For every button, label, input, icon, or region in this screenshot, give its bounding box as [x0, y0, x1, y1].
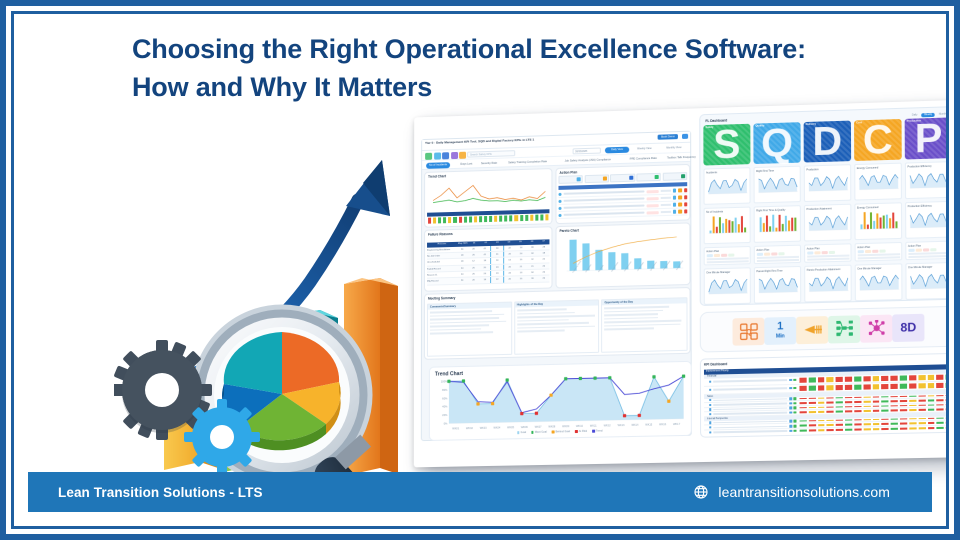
kpi-status-cell: [880, 374, 889, 381]
kpi-status-cell: [862, 400, 871, 404]
card-line: [908, 255, 946, 258]
kpi-status-cell: [798, 384, 807, 391]
row-action-icon[interactable]: [684, 210, 687, 214]
card-chip[interactable]: [857, 250, 863, 254]
row-bullet: [559, 213, 562, 216]
gear-small-icon: [184, 399, 260, 475]
kpi-status-cell: [862, 375, 871, 382]
card-chip[interactable]: [879, 249, 885, 253]
summary-text-line: [430, 328, 481, 331]
row-bullet: [559, 206, 562, 209]
sqdcp-letter-label: Delivery: [806, 123, 816, 126]
card-chip[interactable]: [915, 248, 921, 252]
row-action-icon[interactable]: [673, 196, 676, 200]
kpi-row-text: [713, 379, 787, 382]
card-line: [706, 261, 748, 264]
kpi-status-cell: [908, 417, 917, 421]
kpi-row-status[interactable]: [793, 387, 796, 390]
card-chip[interactable]: [872, 249, 878, 253]
kpi-status-cell: [936, 408, 945, 412]
kpi-row-action[interactable]: [789, 420, 792, 423]
date-picker[interactable]: 30/03/2025: [573, 148, 601, 155]
cost-module-icon[interactable]: [451, 151, 458, 158]
kpi-status-cell: [853, 409, 862, 413]
row-action-icon[interactable]: [678, 203, 681, 207]
row-text: [564, 212, 645, 216]
slide-canvas: Choosing the Right Operational Excellenc…: [14, 14, 946, 526]
sqdcp-letter-tile-delivery[interactable]: DeliveryD: [804, 121, 852, 163]
kpi-status-cell: [945, 403, 946, 407]
meeting-summary-body: [428, 308, 511, 339]
sqdcp-card-action-plan[interactable]: Action Plan: [905, 241, 946, 261]
network-diagram-icon[interactable]: [860, 314, 892, 342]
kpi-status-cell: [935, 373, 944, 380]
kpi-status-cell: [890, 417, 899, 421]
sqdcp-letter-tile-quality[interactable]: QualityQ: [753, 122, 800, 164]
sqdcp-card-energy-consumed[interactable]: Energy Consumed: [854, 163, 902, 201]
summary-text-line: [430, 331, 494, 334]
legend-item: Trend: [592, 429, 602, 432]
chip-badge: [603, 176, 607, 180]
table-cell: Reason 11: [427, 272, 456, 278]
kpi-row-action[interactable]: [789, 429, 792, 432]
sqdcp-card-production-attainment[interactable]: Production Attainment: [804, 204, 852, 242]
sqdcp-card-action-plan[interactable]: Action Plan: [855, 242, 903, 262]
kpi-status-cell: [917, 403, 926, 407]
table-cell: 15: [515, 277, 526, 283]
kpi-status-cell: [835, 405, 844, 409]
footer-brand: Lean Transition Solutions - LTS: [58, 485, 263, 500]
row-status: [646, 204, 658, 207]
action-plan-panel: Action Plan: [555, 164, 690, 224]
row-owner: [661, 197, 671, 199]
x-axis-tick: WK10: [573, 425, 587, 428]
growth-analytics-illustration: [114, 132, 444, 492]
kpi-status-cell: [890, 427, 899, 431]
kpi-status-cell: [817, 419, 826, 423]
table-cell: 24: [527, 270, 538, 276]
safety-module-icon[interactable]: [425, 152, 432, 159]
row-action-icon[interactable]: [684, 203, 687, 207]
tab-no-of-incidents[interactable]: No of Incidents: [426, 162, 450, 169]
trend-chart-large[interactable]: Trend Chart 100%80%60%40%20%0% WK01WK02W…: [429, 361, 692, 441]
production-module-icon[interactable]: [459, 151, 466, 158]
kpi-row-status[interactable]: [793, 411, 796, 414]
row-action-icon[interactable]: [673, 189, 676, 193]
kpi-status-cell: [936, 426, 945, 430]
sqdcp-dashboard[interactable]: FL Dashboard DailyWeeklyMonthly SafetySA…: [699, 106, 946, 306]
kpi-status-cell: [945, 393, 946, 397]
summary-text-line: [604, 309, 663, 312]
table-cell: 23: [491, 271, 504, 277]
sqdcp-letter-tile-production[interactable]: ProductionP: [905, 117, 946, 159]
kpi-row-status[interactable]: [793, 425, 796, 428]
card-chip[interactable]: [713, 253, 719, 257]
action-plan-chip[interactable]: [584, 174, 608, 183]
kpi-row-icon: [709, 380, 711, 382]
row-action-icon[interactable]: [684, 188, 687, 192]
table-cell: 23: [491, 264, 504, 270]
kpi-status-cell: [835, 410, 844, 414]
table-cell: Unscheduled: [427, 259, 456, 265]
kpi-status-cell: [890, 374, 899, 381]
card-chip[interactable]: [908, 248, 914, 252]
tab-safety-training-completion-rate[interactable]: Safety Training Completion Rate: [508, 159, 547, 166]
card-chip[interactable]: [814, 251, 820, 255]
table-cell: 19: [527, 276, 538, 282]
kpi-row-status[interactable]: [793, 397, 796, 400]
meeting-summary-column: Highlights of the Day: [514, 299, 600, 354]
table-cell: 22: [491, 277, 504, 283]
view-toggle-weekly-view[interactable]: Weekly View: [631, 146, 657, 153]
card-chips: [756, 251, 798, 256]
row-action-icon[interactable]: [678, 210, 681, 214]
kpi-status-cell: [871, 383, 880, 390]
kpi-status-cell: [807, 376, 816, 383]
card-chip[interactable]: [728, 253, 734, 257]
card-chip[interactable]: [807, 251, 813, 255]
summary-text-line: [517, 319, 569, 322]
kpi-status-cell: [945, 407, 946, 411]
sqdcp-card-one-minute-manager[interactable]: One Minute Manager: [905, 262, 946, 300]
tree-diagram-icon[interactable]: [828, 315, 860, 343]
x-axis-tick: WK07: [531, 426, 545, 429]
legend-swatch: [575, 430, 578, 433]
kpi-status-cell: [917, 426, 926, 430]
card-chip[interactable]: [771, 252, 777, 256]
kpi-status-cell: [853, 400, 862, 404]
kpi-row-status[interactable]: [793, 379, 796, 382]
kpi-status-cell: [817, 401, 826, 405]
kpi-status-cell: [872, 418, 881, 422]
card-chip[interactable]: [706, 254, 712, 258]
sqdcp-card-production-efficiency[interactable]: Production Efficiency: [905, 161, 946, 199]
row-action-icon[interactable]: [673, 203, 676, 207]
summary-text-line: [430, 317, 499, 320]
kpi-status-cell: [890, 382, 899, 389]
kpi-row-icon: [709, 404, 711, 406]
sqdcp-card-energy-consumed[interactable]: Energy Consumed: [854, 202, 902, 240]
card-chip[interactable]: [864, 249, 870, 253]
footer-website: leantransitionsolutions.com: [718, 484, 890, 500]
kpi-row-icon: [709, 431, 711, 433]
legend-label: At Risk: [579, 430, 587, 433]
sqdcp-card-action-plan[interactable]: Action Plan: [754, 245, 801, 265]
meeting-summary-panel: Meeting Summary Comments/SummaryHighligh…: [424, 287, 691, 360]
sqdcp-column-quality: QualityQRight First TimeRight First Time…: [753, 122, 801, 300]
legend-label: Trend: [596, 429, 603, 432]
kpi-row-action[interactable]: [789, 379, 792, 382]
action-plan-chip[interactable]: [636, 173, 661, 182]
kpi-status-cell: [881, 427, 890, 431]
table-cell: 18: [479, 277, 490, 283]
kpi-status-cell: [853, 418, 862, 422]
kpi-status-cell: [826, 419, 835, 423]
kpi-status-cell: [871, 409, 880, 413]
kpi-status-cell: [908, 374, 917, 381]
summary-text-line: [517, 312, 575, 315]
kpi-status-cell: [853, 423, 862, 427]
kpi-row-text: [713, 407, 787, 410]
table-cell: 18: [538, 250, 549, 256]
kpi-row-action[interactable]: [789, 402, 792, 405]
sqdcp-card-no-of-incidents[interactable]: No of Incidents: [704, 207, 751, 245]
card-chip[interactable]: [922, 248, 928, 252]
row-action-icon[interactable]: [678, 189, 681, 193]
export-icon[interactable]: [682, 133, 688, 138]
kpi-status-cell: [817, 384, 826, 391]
kpi-status-cell: [881, 409, 890, 413]
kpi-status-cell: [826, 428, 835, 432]
table-cell: 24: [456, 278, 467, 284]
sqdcp-card-pareto-right-first-time[interactable]: Pareto Right First Time: [754, 266, 801, 304]
kpi-status-cell: [835, 428, 844, 432]
summary-text-line: [604, 323, 680, 326]
meeting-summary-column: Opportunity of the Day: [601, 297, 687, 353]
tool-label: 1: [777, 321, 783, 332]
kpi-status-cell: [926, 373, 935, 380]
table-cell: 20: [504, 264, 515, 270]
kpi-status-cell: [890, 422, 899, 426]
card-chip[interactable]: [778, 252, 784, 256]
search-input[interactable]: Search Safety KPIs: [467, 150, 515, 157]
sqdcp-card-one-minute-manager[interactable]: One Minute Manager: [855, 263, 903, 301]
sqdcp-column-production: ProductionPProduction EfficiencyProducti…: [905, 117, 946, 296]
kpi-status-cell: [798, 376, 807, 383]
kpi-row-action[interactable]: [789, 407, 792, 410]
kpi-status-cell: [917, 408, 926, 412]
summary-text-line: [517, 325, 595, 328]
card-chip[interactable]: [828, 250, 834, 254]
tab-days-lost[interactable]: Days Lost: [460, 161, 472, 167]
kpi-row-status[interactable]: [793, 429, 796, 432]
kpi-row-icon: [709, 408, 711, 410]
sqdcp-card-right-first-time[interactable]: Right First Time: [754, 166, 801, 204]
kpi-status-cell: [899, 427, 908, 431]
kpi-status-cell: [926, 408, 935, 412]
one-minute-icon[interactable]: 1Min: [764, 316, 796, 344]
summary-text-line: [604, 327, 653, 330]
table-cell: 14: [515, 244, 526, 250]
summary-text-line: [604, 313, 657, 316]
kpi-status-cell: [844, 405, 853, 409]
svg-text:0%: 0%: [444, 421, 448, 425]
card-chip[interactable]: [930, 248, 936, 252]
sqdcp-card-pareto-production-attainment[interactable]: Pareto Production Attainment: [804, 265, 852, 303]
kpi-status-cell: [890, 399, 899, 403]
card-chip[interactable]: [721, 253, 727, 257]
title-line-1: Choosing the Right Operational Excellenc…: [132, 30, 892, 68]
action-plan-chip[interactable]: [663, 172, 688, 181]
kpi-status-cell: [899, 374, 908, 381]
kpi-status-cell: [799, 406, 808, 410]
tab-ppe-compliance-rate[interactable]: PPE Compliance Rate: [630, 155, 657, 162]
kpi-status-cell: [844, 423, 853, 427]
eight-d-icon[interactable]: 8D: [892, 313, 924, 341]
kpi-status-cell: [917, 399, 926, 403]
kpi-row-icon: [709, 422, 711, 424]
kpi-status-cell: [881, 418, 890, 422]
sqdcp-card-production-efficiency[interactable]: Production Efficiency: [905, 201, 946, 239]
x-axis-tick: WK05: [504, 426, 518, 429]
kpi-status-cell: [808, 419, 817, 423]
table-cell: 24: [527, 251, 538, 257]
meeting-summary-column: Comments/Summary: [427, 302, 512, 357]
tab-toolbox-talk-frequency[interactable]: Toolbox Talk Frequency: [667, 154, 696, 161]
tab-job-safety-analysis-jsa-compliance[interactable]: Job Safety Analysis (JSA) Compliance: [565, 157, 611, 164]
kpi-row-action[interactable]: [789, 397, 792, 400]
meeting-summary-body: [515, 305, 599, 336]
summary-text-line: [430, 324, 489, 327]
kpi-status-cell: [926, 421, 935, 425]
kpi-status-cell: [862, 409, 871, 413]
row-action-icon[interactable]: [684, 196, 687, 200]
fishbone-icon[interactable]: [796, 316, 828, 344]
summary-text-line: [517, 315, 595, 318]
chip-badge: [655, 175, 659, 179]
card-chip[interactable]: [756, 252, 762, 256]
quality-module-icon[interactable]: [434, 152, 441, 159]
kpi-status-cell: [808, 428, 817, 432]
delivery-module-icon[interactable]: [442, 152, 449, 159]
product-screenshot-composite[interactable]: Tier 0 - Daily Management KPI Tool, SQD …: [414, 100, 946, 467]
x-axis-tick: WK06: [517, 426, 531, 429]
summary-text-line: [517, 322, 589, 325]
kpi-row-icon: [709, 399, 711, 401]
row-status: [646, 190, 658, 193]
letter-mosaic-texture: [804, 121, 852, 163]
kpi-status-cell: [844, 395, 853, 399]
kpi-status-cell: [808, 384, 817, 391]
sqdcp-letter-tile-cost[interactable]: CostC: [854, 119, 902, 161]
kpi-status-cell: [808, 406, 817, 410]
letter-mosaic-texture: [854, 119, 902, 161]
svg-text:80%: 80%: [442, 388, 448, 392]
meeting-summary-body: [602, 303, 686, 334]
kpi-row-icon: [709, 426, 711, 428]
globe-icon: [693, 484, 709, 500]
table-cell: 12: [468, 259, 479, 265]
sqdcp-letter-label: Quality: [755, 124, 764, 127]
x-axis-tick: WK02: [463, 427, 477, 430]
view-toggle-monthly-view[interactable]: Monthly View: [660, 145, 688, 152]
pareto-chart-panel: Pareto Chart Engineering BreakdUtility B…: [555, 222, 690, 288]
table-cell: 20: [456, 265, 467, 271]
summary-text-line: [430, 310, 493, 313]
table-cell: 24: [491, 245, 504, 251]
kpi-status-cell: [853, 395, 862, 399]
kpi-row-label: [704, 429, 798, 434]
row-bullet: [559, 199, 562, 202]
kpi-status-cell: [917, 417, 926, 421]
footer-bar: Lean Transition Solutions - LTS leantran…: [28, 472, 932, 512]
lean-tools-strip[interactable]: Q1Min8D: [700, 306, 946, 353]
x-axis-tick: WK04: [490, 426, 504, 429]
kpi-row-status[interactable]: [793, 402, 796, 405]
table-cell: Engineering Breakdown: [427, 246, 456, 252]
kpi-dashboard[interactable]: KPI Dashboard Improvement Priority Finan…: [700, 353, 946, 438]
kpi-status-cell: [917, 422, 926, 426]
action-plan-chip[interactable]: [558, 175, 582, 184]
svg-text:20%: 20%: [442, 413, 448, 417]
kpi-row-text: [713, 398, 787, 401]
kpi-row-action[interactable]: [789, 411, 792, 414]
kpi-status-cell: [799, 429, 808, 433]
svg-text:100%: 100%: [441, 379, 448, 383]
sqdcp-letter-tile-safety[interactable]: SafetyS: [703, 124, 750, 166]
kpi-status-cell: [862, 383, 871, 390]
sqdcp-card-action-plan[interactable]: Action Plan: [704, 246, 751, 266]
kpi-row-text: [713, 388, 787, 391]
table-cell: 24: [515, 251, 526, 257]
x-axis-tick: WK08: [545, 425, 559, 428]
card-chip[interactable]: [821, 251, 827, 255]
sqdcp-card-production[interactable]: Production: [804, 164, 852, 202]
table-cell: 20: [456, 272, 467, 278]
sqdcp-card-one-minute-manager[interactable]: One Minute Manager: [704, 267, 751, 305]
kpi-status-cell: [899, 399, 908, 403]
sqdcp-card-accidents[interactable]: Accidents: [703, 167, 750, 205]
kpi-status-cell: [872, 427, 881, 431]
view-toggle-daily-view[interactable]: Daily View: [605, 147, 629, 154]
kpi-status-cell: [799, 424, 808, 428]
x-axis-tick: WK01: [449, 427, 463, 430]
chip-badge: [681, 174, 685, 178]
kpi-status-cell: [835, 396, 844, 400]
failure-reasons-panel: Failure Reasons ReasonsMay 2025010203040…: [424, 226, 553, 292]
title-line-2: How and Why It Matters: [132, 68, 892, 106]
book-demo-button[interactable]: Book Demo: [658, 134, 678, 140]
table-cell: 33: [527, 244, 538, 250]
sqdcp-card-action-plan[interactable]: Action Plan: [804, 243, 851, 263]
row-owner: [661, 204, 671, 206]
kpi-row-action[interactable]: [789, 425, 792, 428]
kpi-status-cell: [799, 419, 808, 423]
kpi-status-cell: [908, 399, 917, 403]
row-action-icon[interactable]: [673, 210, 676, 214]
kpi-row-status[interactable]: [793, 406, 796, 409]
kpi-status-cell: [899, 417, 908, 421]
kpi-status-cell: [871, 400, 880, 404]
kpi-status-cell: [862, 427, 871, 431]
kpi-row-text: [713, 421, 787, 424]
legend-label: Behind Goal: [556, 430, 570, 433]
kpi-status-cell: [881, 399, 890, 403]
kpi-row-status[interactable]: [793, 420, 796, 423]
kpi-status-cell: [945, 421, 946, 425]
kpi-status-cell: [808, 401, 817, 405]
summary-text-line: [604, 317, 658, 320]
table-cell: 21: [527, 263, 538, 269]
kpi-status-cell: [817, 410, 826, 414]
row-action-icon[interactable]: [678, 196, 681, 200]
tab-severity-rate[interactable]: Severity Rate: [481, 160, 497, 166]
sqdcp-card-right-first-time-quality[interactable]: Right First Time & Quality: [754, 205, 801, 243]
kpi-status-cell: [826, 375, 835, 382]
kpi-status-cell: [817, 424, 826, 428]
kpi-status-cell: [871, 404, 880, 408]
x-axis-tick: WK11: [586, 424, 600, 427]
kpi-row-action[interactable]: [789, 387, 792, 390]
card-chip[interactable]: [764, 252, 770, 256]
table-cell: 28: [538, 244, 549, 250]
kpi-status-cell: [808, 396, 817, 400]
x-axis-tick: WK09: [559, 425, 573, 428]
qrqc-icon[interactable]: Q: [732, 317, 764, 345]
kpi-status-cell: [835, 400, 844, 404]
action-plan-chip[interactable]: [610, 174, 635, 183]
table-cell: 25: [468, 265, 479, 271]
